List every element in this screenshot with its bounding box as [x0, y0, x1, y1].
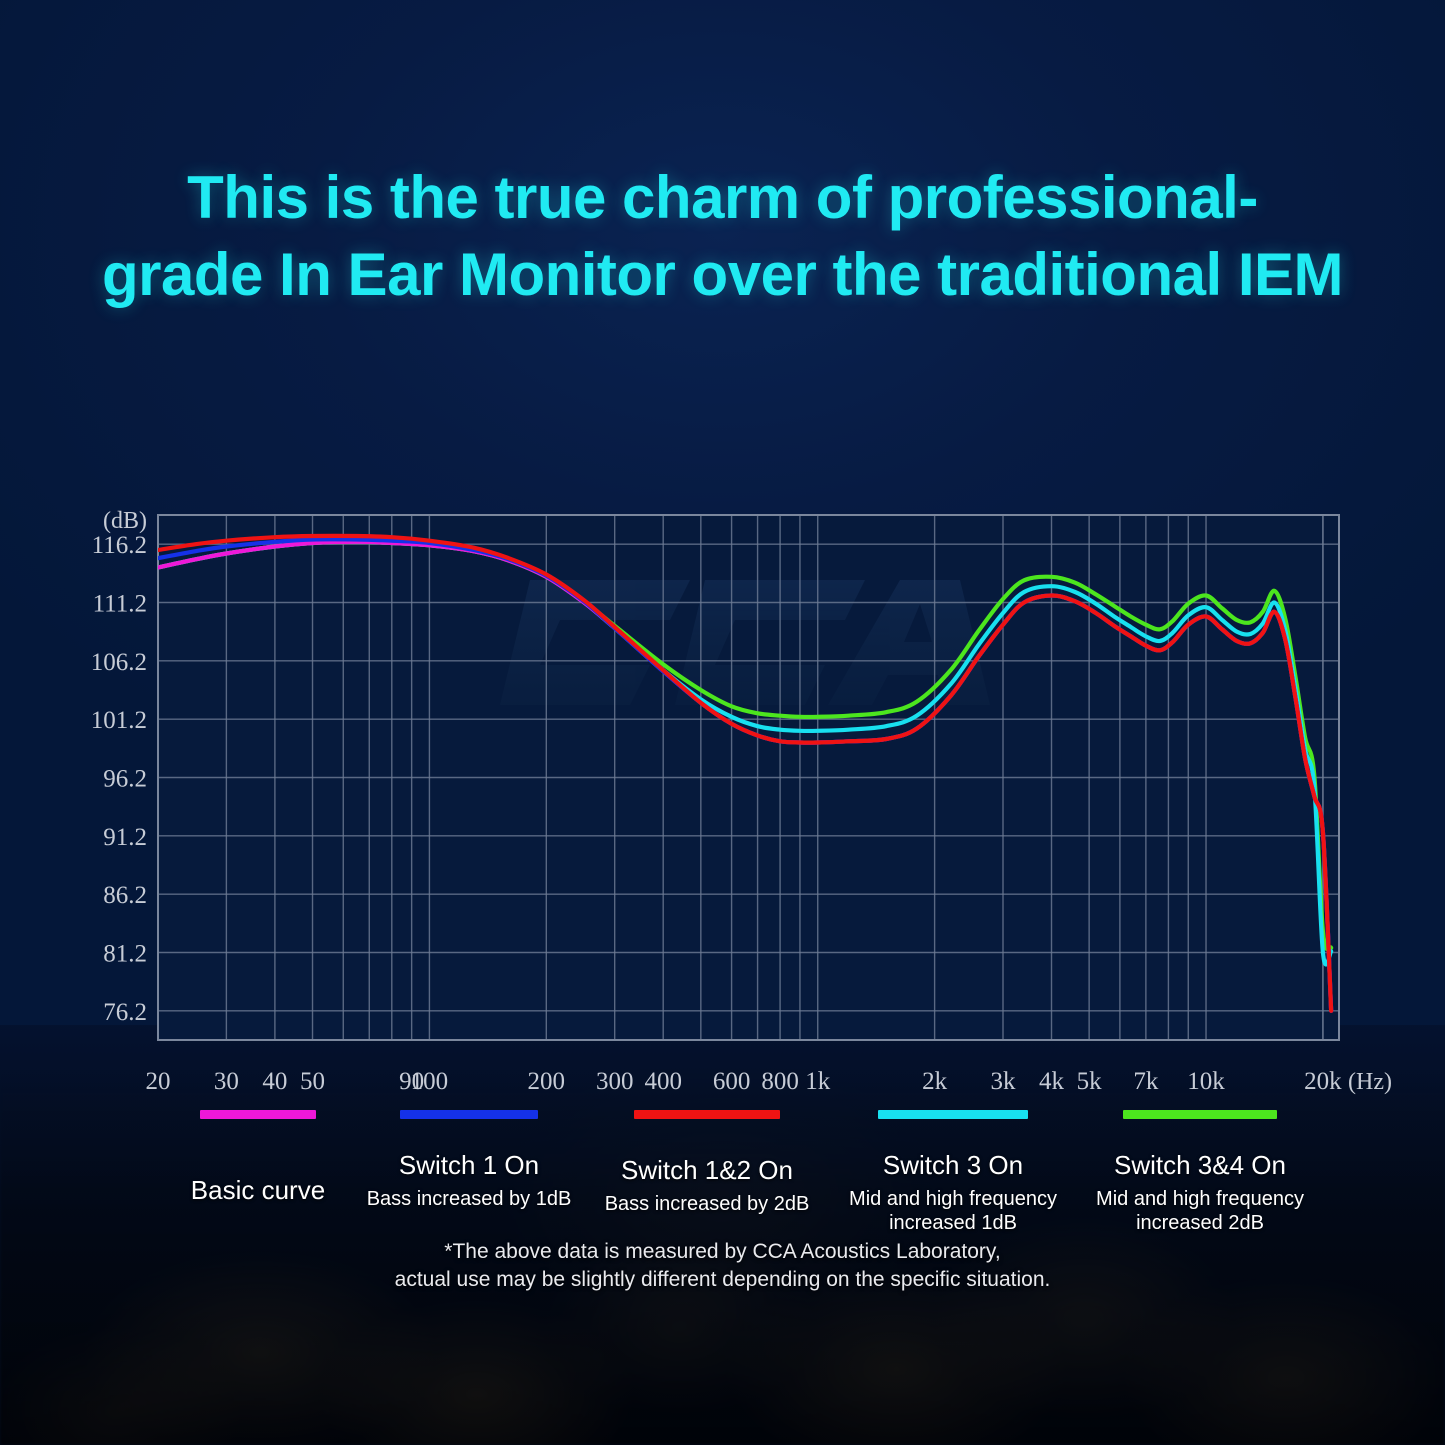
x-tick-label: 40 [262, 1068, 287, 1095]
x-tick-label: 4k [1039, 1068, 1065, 1095]
y-tick-label: 111.2 [93, 591, 147, 618]
x-tick-label: 300 [596, 1068, 634, 1095]
legend-item-sublabel: increased 1dB [838, 1211, 1068, 1235]
y-tick-label: 101.2 [91, 707, 147, 734]
y-tick-label: 106.2 [91, 649, 147, 676]
legend-color-swatch [878, 1110, 1028, 1119]
legend-item-sublabel: increased 2dB [1082, 1211, 1318, 1235]
x-tick-label: 200 [528, 1068, 566, 1095]
legend-item-sublabel: Mid and high frequency [1082, 1187, 1318, 1211]
x-tick-label: 20k [1304, 1068, 1342, 1095]
x-tick-label: 2k [922, 1068, 948, 1095]
x-tick-label: 600 [713, 1068, 751, 1095]
legend-item[interactable]: Switch 3 OnMid and high frequencyincreas… [838, 1110, 1068, 1236]
chart-legend: Basic curveSwitch 1 OnBass increased by … [0, 1110, 1445, 1240]
legend-spacer [1082, 1131, 1318, 1151]
y-tick-label: 81.2 [103, 941, 147, 968]
x-tick-label: 50 [300, 1068, 325, 1095]
x-tick-label: 1k [805, 1068, 831, 1095]
y-tick-label: 116.2 [92, 532, 147, 559]
legend-item-label: Switch 3&4 On [1082, 1151, 1318, 1181]
x-tick-label: 400 [644, 1068, 682, 1095]
y-tick-label: 96.2 [103, 766, 147, 793]
legend-spacer [838, 1131, 1068, 1151]
legend-item-label: Switch 1 On [358, 1151, 580, 1181]
legend-item-label: Switch 1&2 On [592, 1156, 822, 1186]
footnote-line2: actual use may be slightly different dep… [0, 1266, 1445, 1294]
legend-color-swatch [634, 1110, 780, 1119]
footnote: *The above data is measured by CCA Acous… [0, 1238, 1445, 1295]
legend-item[interactable]: Switch 1&2 OnBass increased by 2dB [592, 1110, 822, 1216]
x-tick-label: 100 [411, 1068, 449, 1095]
footnote-line1: *The above data is measured by CCA Acous… [0, 1238, 1445, 1266]
x-axis-labels: 20304050901002003004006008001k2k3k4k5k7k… [146, 1068, 1343, 1095]
x-axis-unit-label: (Hz) [1348, 1069, 1392, 1095]
page-root: This is the true charm of professional- … [0, 0, 1445, 1445]
legend-item[interactable]: Switch 1 OnBass increased by 1dB [358, 1110, 580, 1211]
legend-item[interactable]: Switch 3&4 OnMid and high frequencyincre… [1082, 1110, 1318, 1236]
legend-color-swatch [1123, 1110, 1277, 1119]
x-tick-label: 30 [214, 1068, 239, 1095]
y-tick-label: 86.2 [103, 882, 147, 909]
x-tick-label: 10k [1187, 1068, 1225, 1095]
legend-item-label: Basic curve [150, 1176, 366, 1206]
legend-spacer [592, 1131, 822, 1156]
legend-item[interactable]: Basic curve [150, 1110, 366, 1206]
x-tick-label: 5k [1077, 1068, 1103, 1095]
x-tick-label: 800 [761, 1068, 799, 1095]
legend-color-swatch [400, 1110, 538, 1119]
x-tick-label: 3k [991, 1068, 1017, 1095]
legend-spacer [358, 1131, 580, 1151]
legend-item-sublabel: Bass increased by 1dB [358, 1187, 580, 1211]
legend-item-sublabel: Mid and high frequency [838, 1187, 1068, 1211]
legend-color-swatch [200, 1110, 316, 1119]
y-tick-label: 76.2 [103, 999, 147, 1026]
x-tick-label: 20 [146, 1068, 171, 1095]
y-axis-labels: 116.2111.2106.2101.296.291.286.281.276.2 [91, 532, 147, 1026]
y-tick-label: 91.2 [103, 824, 147, 851]
legend-item-label: Switch 3 On [838, 1151, 1068, 1181]
legend-item-sublabel: Bass increased by 2dB [592, 1192, 822, 1216]
x-tick-label: 7k [1133, 1068, 1159, 1095]
y-axis-unit-label: (dB) [103, 508, 147, 534]
legend-spacer [150, 1131, 366, 1176]
